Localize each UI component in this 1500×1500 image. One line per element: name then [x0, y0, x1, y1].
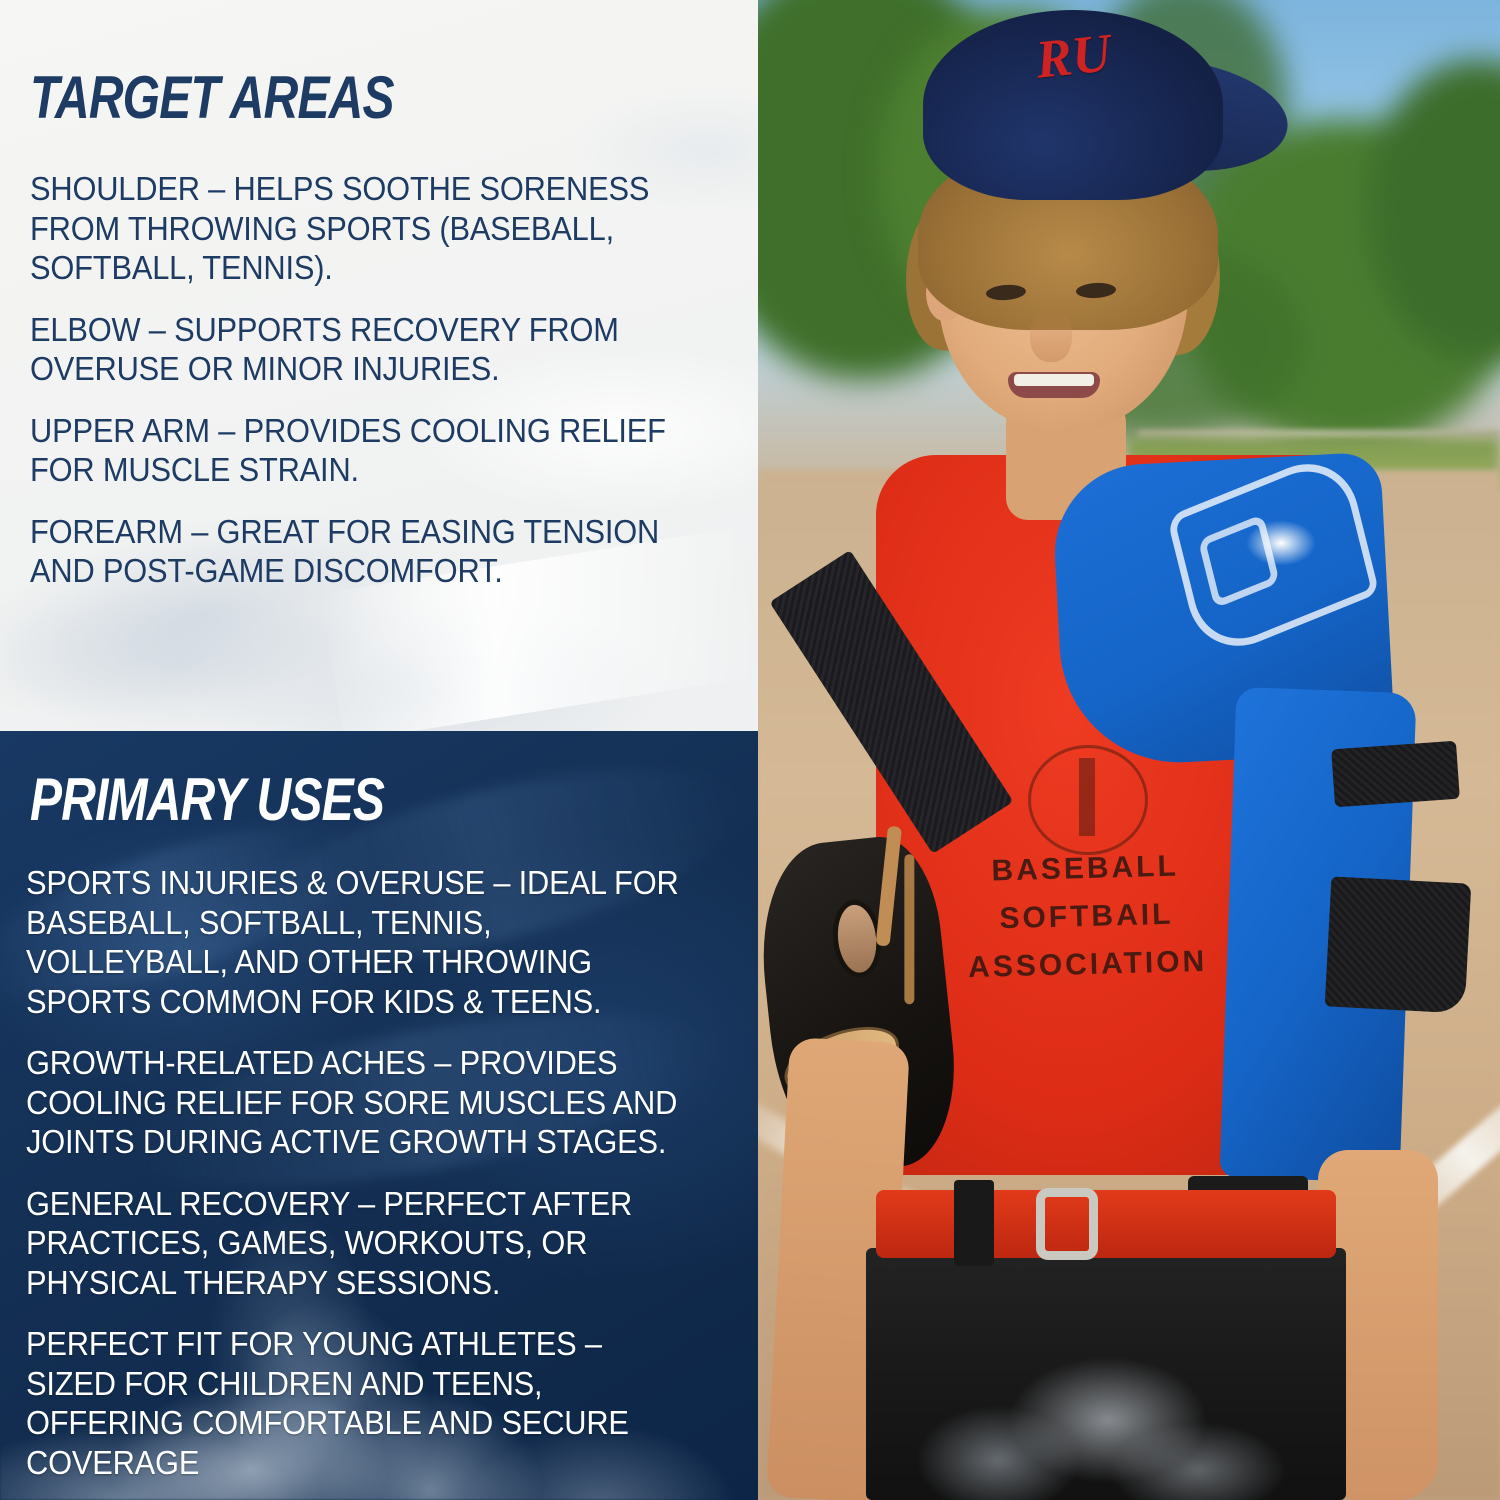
target-area-item: SHOULDER – HELPS SOOTHE SORENESS FROM TH…	[30, 170, 683, 289]
primary-use-item: GENERAL RECOVERY – PERFECT AFTER PRACTIC…	[26, 1185, 681, 1304]
target-areas-body: SHOULDER – HELPS SOOTHE SORENESS FROM TH…	[30, 170, 740, 592]
glove-lace	[904, 854, 914, 1004]
jersey-print-line-1: BASEBALL SOFTBAIL	[925, 841, 1247, 945]
infographic-canvas: TARGET AREAS SHOULDER – HELPS SOOTHE SOR…	[0, 0, 1500, 1500]
primary-use-item: GROWTH-RELATED ACHES – PROVIDES COOLING …	[26, 1044, 681, 1163]
sun-glare	[1246, 520, 1316, 566]
primary-uses-body: SPORTS INJURIES & OVERUSE – IDEAL FOR BA…	[26, 864, 738, 1483]
primary-uses-block: PRIMARY USES	[30, 770, 730, 830]
primary-use-item: PERFECT FIT FOR YOUNG ATHLETES – SIZED F…	[26, 1325, 681, 1483]
nose	[1030, 310, 1072, 362]
belt-buckle	[1036, 1188, 1098, 1260]
product-photo: BASEBALL SOFTBAIL ASSOCIATION RU	[758, 0, 1500, 1500]
mouth	[1008, 372, 1100, 398]
target-areas-heading: TARGET AREAS	[30, 68, 590, 128]
target-area-item: UPPER ARM – PROVIDES COOLING RELIEF FOR …	[30, 412, 683, 491]
smoke-effect	[848, 1300, 1368, 1500]
primary-uses-heading: PRIMARY USES	[30, 770, 590, 830]
jersey-emblem	[1028, 745, 1148, 855]
target-areas-block: TARGET AREAS	[30, 68, 730, 128]
cap-logo-text: RU	[1033, 17, 1136, 97]
jersey-print-line-2: ASSOCIATION	[927, 937, 1248, 993]
red-belt	[876, 1190, 1336, 1258]
velcro-patch	[1325, 876, 1472, 1013]
belt-loop	[954, 1180, 994, 1266]
primary-use-item: SPORTS INJURIES & OVERUSE – IDEAL FOR BA…	[26, 864, 681, 1022]
target-area-item: ELBOW – SUPPORTS RECOVERY FROM OVERUSE O…	[30, 311, 683, 390]
teeth	[1014, 374, 1094, 386]
text-column: TARGET AREAS SHOULDER – HELPS SOOTHE SOR…	[0, 0, 758, 1500]
velcro-patch	[1331, 741, 1460, 808]
glove-lace	[876, 826, 902, 947]
target-area-item: FOREARM – GREAT FOR EASING TENSION AND P…	[30, 513, 683, 592]
jersey-print: BASEBALL SOFTBAIL ASSOCIATION	[925, 841, 1248, 959]
